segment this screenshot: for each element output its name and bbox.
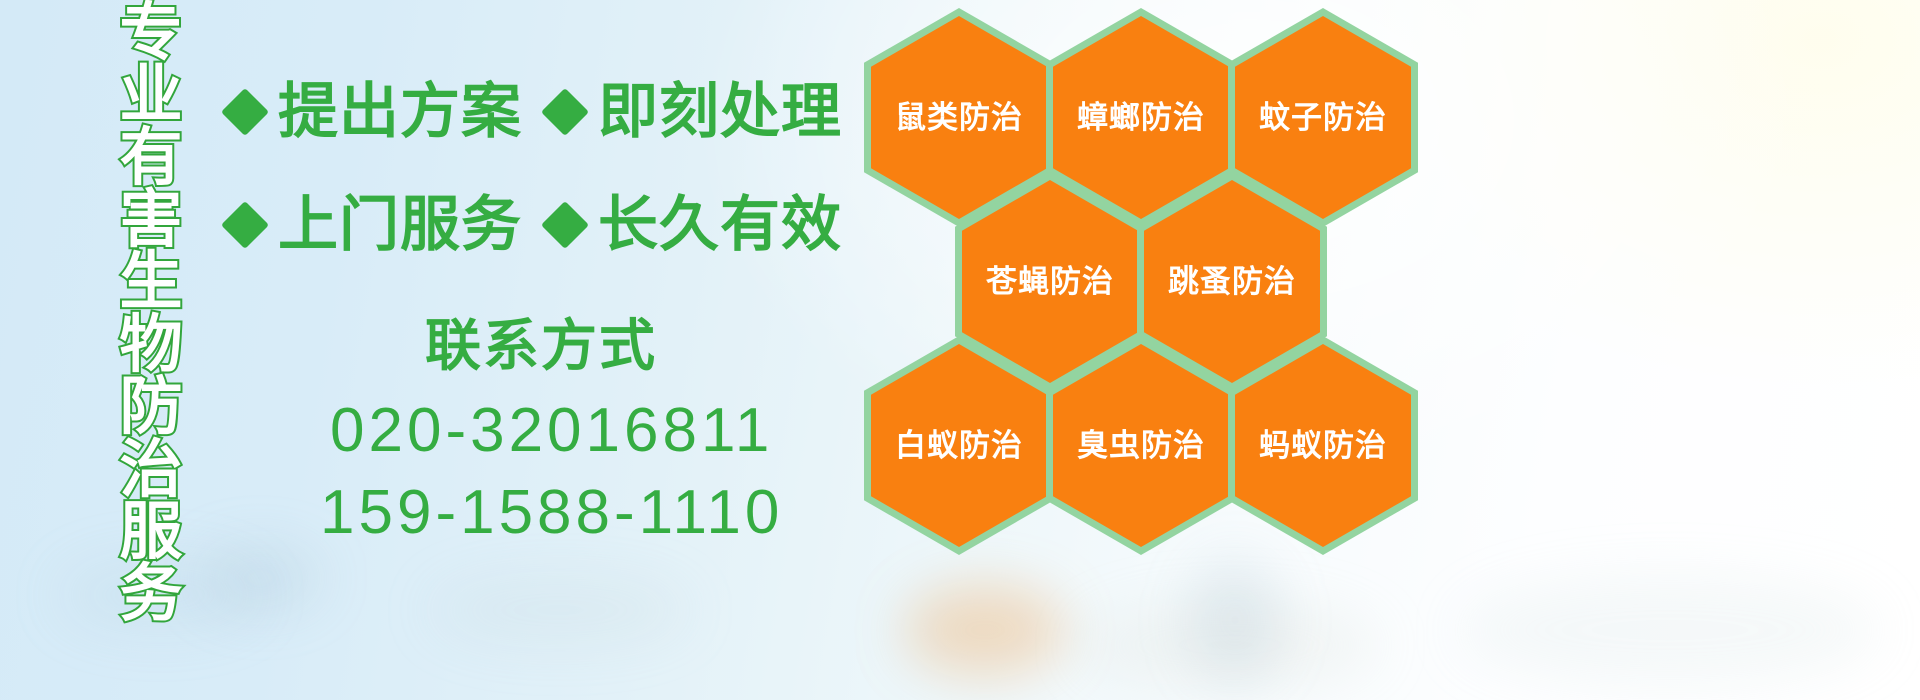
hex-label: 鼠类防治 (895, 102, 1023, 133)
diamond-bullet-icon (541, 201, 589, 249)
background-blur-blotch (1190, 560, 1280, 680)
vertical-slogan-char: 生 (120, 251, 183, 313)
feature-label: 长久有效 (598, 195, 842, 255)
hex-inner: 蚊子防治 (1235, 16, 1411, 219)
contact-phone-mobile[interactable]: 159-1588-1110 (320, 482, 783, 544)
vertical-slogan-char: 治 (120, 439, 183, 501)
feature-row-1: 提出方案 即刻处理 (228, 82, 842, 142)
feature-label: 上门服务 (278, 195, 522, 255)
banner-stage: 专 业 有 害 生 物 防 治 服 务 提出方案 即刻处理 上门服务 长久有效 (0, 0, 1920, 700)
hex-label: 蟑螂防治 (1077, 102, 1205, 133)
feature-item-onsite-service: 上门服务 (228, 195, 522, 255)
hex-label: 苍蝇防治 (986, 266, 1114, 297)
vertical-slogan: 专 业 有 害 生 物 防 治 服 务 (108, 2, 194, 568)
hex-inner: 蚂蚁防治 (1235, 344, 1411, 547)
hex-label: 白蚁防治 (895, 430, 1023, 461)
feature-label: 提出方案 (278, 82, 522, 142)
hex-label: 臭虫防治 (1077, 430, 1205, 461)
contact-phone-landline[interactable]: 020-32016811 (330, 400, 773, 462)
diamond-bullet-icon (541, 88, 589, 136)
feature-row-2: 上门服务 长久有效 (228, 195, 842, 255)
hex-inner: 跳蚤防治 (1144, 180, 1320, 383)
background-blur-blotch (1080, 600, 1380, 690)
background-blur-blotch (1460, 575, 1880, 685)
hex-label: 蚂蚁防治 (1259, 430, 1387, 461)
feature-label: 即刻处理 (598, 82, 842, 142)
hex-label: 跳蚤防治 (1168, 266, 1296, 297)
vertical-slogan-char: 害 (120, 189, 183, 251)
service-honeycomb: 鼠类防治 蟑螂防治 蚊子防治 苍蝇防治 跳蚤防治 白蚁防治 (860, 0, 1460, 560)
background-blur-blotch (430, 575, 690, 645)
vertical-slogan-char: 服 (120, 501, 183, 563)
vertical-slogan-char: 业 (120, 64, 183, 126)
feature-item-long-lasting: 长久有效 (548, 195, 842, 255)
background-blur-blotch (200, 548, 320, 608)
vertical-slogan-char: 防 (120, 376, 183, 438)
contact-title: 联系方式 (425, 318, 657, 374)
hex-inner: 臭虫防治 (1053, 344, 1229, 547)
hex-inner: 鼠类防治 (871, 16, 1047, 219)
hex-inner: 蟑螂防治 (1053, 16, 1229, 219)
diamond-bullet-icon (221, 88, 269, 136)
hex-inner: 白蚁防治 (871, 344, 1047, 547)
hex-label: 蚊子防治 (1259, 102, 1387, 133)
background-blur-blotch (905, 585, 1065, 675)
hex-inner: 苍蝇防治 (962, 180, 1138, 383)
vertical-slogan-char: 专 (120, 2, 183, 64)
feature-item-immediate-handling: 即刻处理 (548, 82, 842, 142)
vertical-slogan-char: 务 (120, 563, 183, 625)
vertical-slogan-char: 物 (120, 314, 183, 376)
vertical-slogan-char: 有 (120, 127, 183, 189)
feature-item-propose-plan: 提出方案 (228, 82, 522, 142)
diamond-bullet-icon (221, 201, 269, 249)
